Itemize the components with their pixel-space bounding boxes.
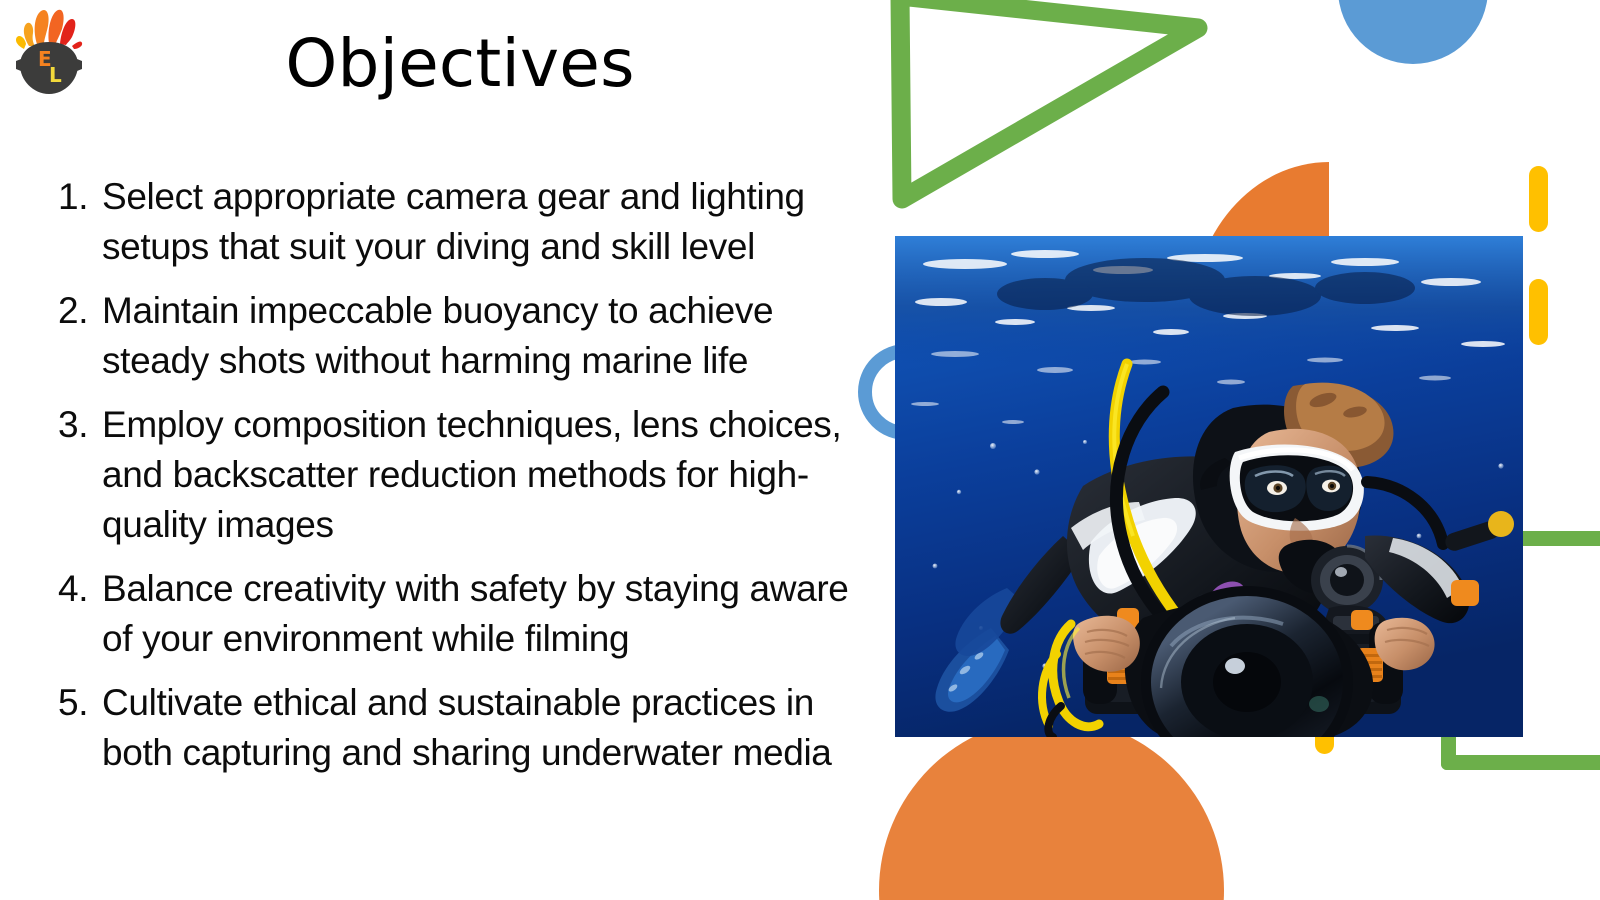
list-item-number: 3. <box>44 400 102 450</box>
objectives-list: 1. Select appropriate camera gear and li… <box>44 172 874 792</box>
yellow-bar-lower-shape <box>1529 279 1548 345</box>
list-item-text: Balance creativity with safety by stayin… <box>102 564 874 664</box>
list-item-number: 1. <box>44 172 102 222</box>
list-item-text: Maintain impeccable buoyancy to achieve … <box>102 286 874 386</box>
list-item-number: 2. <box>44 286 102 336</box>
list-item: 3. Employ composition techniques, lens c… <box>44 400 874 550</box>
list-item-text: Employ composition techniques, lens choi… <box>102 400 874 550</box>
yellow-bar-upper-shape <box>1529 166 1548 232</box>
list-item-number: 5. <box>44 678 102 728</box>
page-title: Objectives <box>60 28 860 101</box>
orange-circle-large-shape <box>879 718 1224 900</box>
blue-half-circle-shape <box>1338 0 1488 64</box>
slide-canvas: E L Objectives <box>0 0 1600 900</box>
list-item-text: Cultivate ethical and sustainable practi… <box>102 678 874 778</box>
list-item: 1. Select appropriate camera gear and li… <box>44 172 874 272</box>
scuba-diver-photo <box>895 236 1523 737</box>
list-item: 4. Balance creativity with safety by sta… <box>44 564 874 664</box>
list-item: 2. Maintain impeccable buoyancy to achie… <box>44 286 874 386</box>
green-triangle-outline-icon <box>880 0 1220 214</box>
list-item-number: 4. <box>44 564 102 614</box>
list-item-text: Select appropriate camera gear and light… <box>102 172 874 272</box>
list-item: 5. Cultivate ethical and sustainable pra… <box>44 678 874 778</box>
